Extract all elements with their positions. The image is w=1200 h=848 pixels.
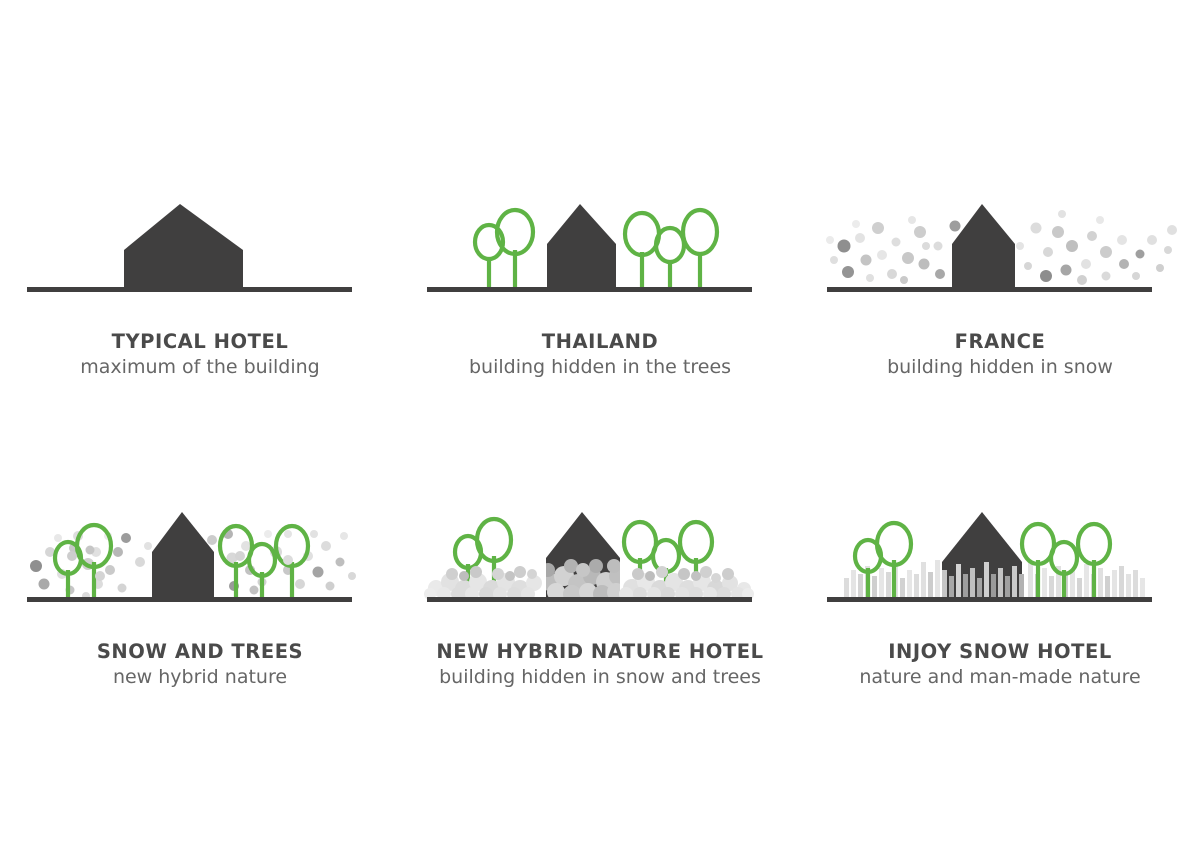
ground-line <box>427 287 752 292</box>
panel-subtitle: new hybrid nature <box>0 664 400 690</box>
ground-line <box>827 597 1152 602</box>
panel-title: INJOY SNOW HOTEL <box>800 640 1200 664</box>
diagram-sheet: TYPICAL HOTEL maximum of the building <box>0 0 1200 848</box>
panel-typical-hotel: TYPICAL HOTEL maximum of the building <box>0 180 400 510</box>
caption-typical-hotel: TYPICAL HOTEL maximum of the building <box>0 330 400 380</box>
panel-title: NEW HYBRID NATURE HOTEL <box>400 640 800 664</box>
panel-injoy-snow-hotel: INJOY SNOW HOTEL nature and man-made nat… <box>800 490 1200 820</box>
tree-group-left <box>475 210 533 288</box>
panel-subtitle: building hidden in the trees <box>400 354 800 380</box>
tree-icon <box>683 210 717 288</box>
building-icon <box>152 512 214 598</box>
caption-new-hybrid-nature-hotel: NEW HYBRID NATURE HOTEL building hidden … <box>400 640 800 690</box>
caption-snow-and-trees: SNOW AND TREES new hybrid nature <box>0 640 400 690</box>
panel-subtitle: nature and man-made nature <box>800 664 1200 690</box>
tree-group-right <box>625 210 717 288</box>
panel-thailand: THAILAND building hidden in the trees <box>400 180 800 510</box>
ground-line <box>27 597 352 602</box>
ground-line <box>427 597 752 602</box>
panel-snow-and-trees: SNOW AND TREES new hybrid nature <box>0 490 400 820</box>
panel-subtitle: building hidden in snow <box>800 354 1200 380</box>
panel-subtitle: building hidden in snow and trees <box>400 664 800 690</box>
ground-line <box>827 287 1152 292</box>
panel-title: FRANCE <box>800 330 1200 354</box>
panel-title: THAILAND <box>400 330 800 354</box>
caption-injoy-snow-hotel: INJOY SNOW HOTEL nature and man-made nat… <box>800 640 1200 690</box>
building-icon <box>547 204 616 288</box>
building-icon <box>124 204 243 288</box>
bar-group-right <box>1028 562 1145 598</box>
tree-icon <box>625 213 659 288</box>
tree-icon <box>497 210 533 288</box>
caption-france: FRANCE building hidden in snow <box>800 330 1200 380</box>
panel-subtitle: maximum of the building <box>0 354 400 380</box>
ground-line <box>27 287 352 292</box>
panel-new-hybrid-nature-hotel: NEW HYBRID NATURE HOTEL building hidden … <box>400 490 800 820</box>
panel-title: TYPICAL HOTEL <box>0 330 400 354</box>
panel-grid: TYPICAL HOTEL maximum of the building <box>0 0 1200 848</box>
panel-france: FRANCE building hidden in snow <box>800 180 1200 510</box>
caption-thailand: THAILAND building hidden in the trees <box>400 330 800 380</box>
building-icon <box>952 204 1015 288</box>
panel-title: SNOW AND TREES <box>0 640 400 664</box>
tree-group-left <box>55 525 111 598</box>
